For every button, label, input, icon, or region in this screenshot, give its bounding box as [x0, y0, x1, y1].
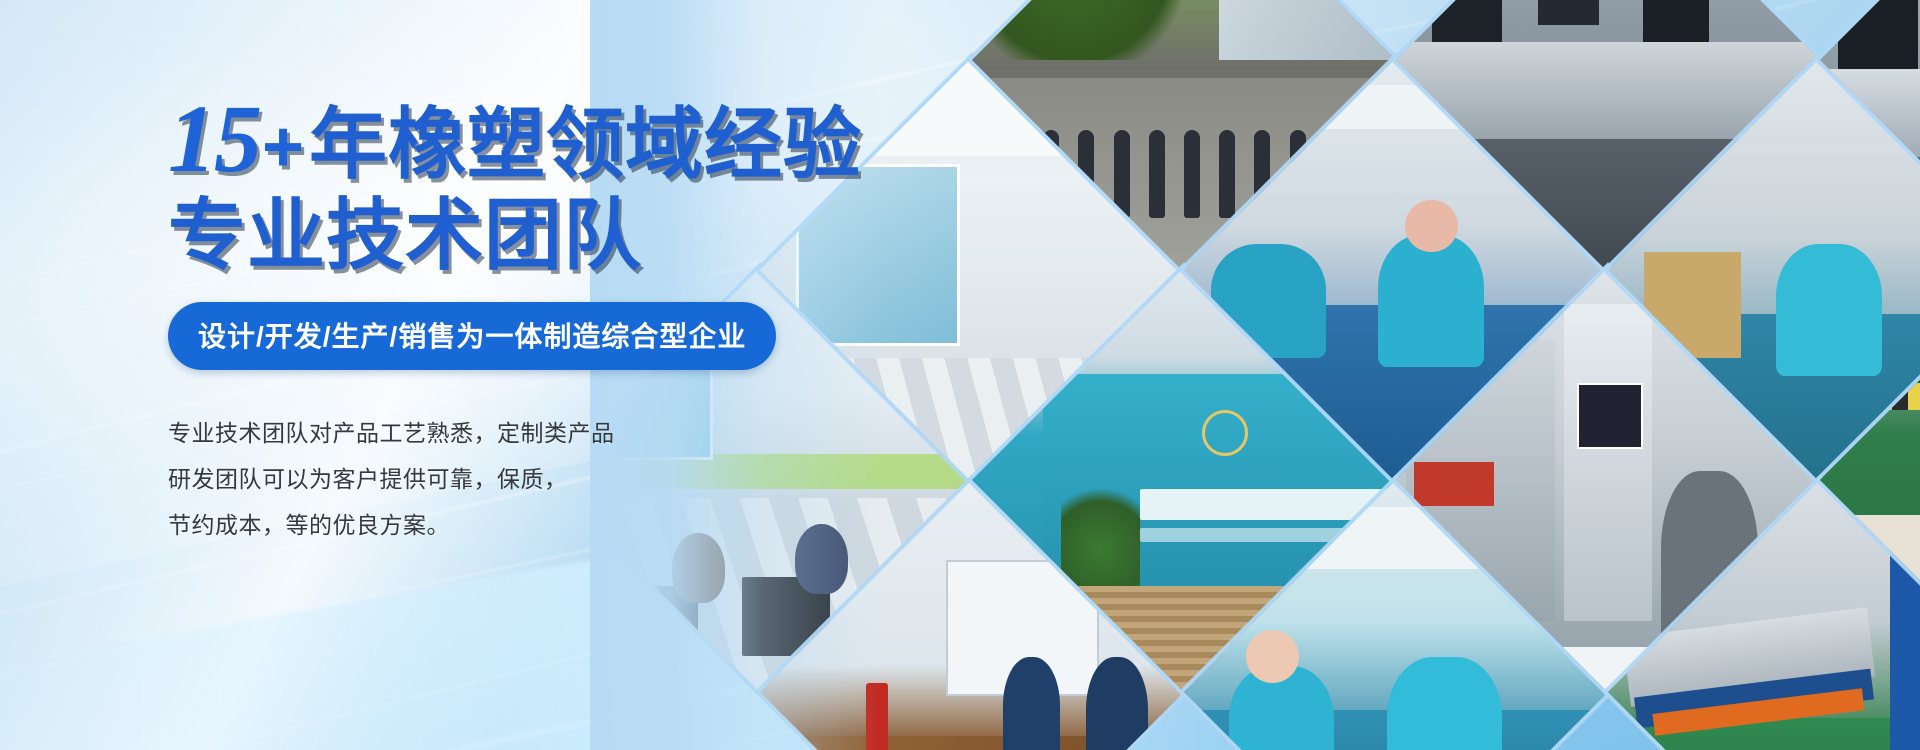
headline-line-1: 15+年橡塑领域经验 — [168, 88, 808, 190]
body-line-3: 节约成本，等的优良方案。 — [168, 502, 808, 548]
promo-banner: 15+年橡塑领域经验 专业技术团队 设计/开发/生产/销售为一体制造综合型企业 … — [0, 0, 1920, 750]
body-paragraph: 专业技术团队对产品工艺熟悉，定制类产品 研发团队可以为客户提供可靠，保质， 节约… — [168, 410, 808, 548]
years-number: 15 — [168, 85, 260, 192]
body-line-2: 研发团队可以为客户提供可靠，保质， — [168, 456, 808, 502]
banner-text-block: 15+年橡塑领域经验 专业技术团队 设计/开发/生产/销售为一体制造综合型企业 … — [168, 88, 808, 548]
plus-symbol: + — [262, 107, 305, 187]
body-line-1: 专业技术团队对产品工艺熟悉，定制类产品 — [168, 410, 808, 456]
tagline-pill[interactable]: 设计/开发/生产/销售为一体制造综合型企业 — [168, 302, 776, 370]
headline-line-2: 专业技术团队 — [168, 194, 808, 277]
headline-line-1-suffix: 年橡塑领域经验 — [309, 100, 862, 188]
